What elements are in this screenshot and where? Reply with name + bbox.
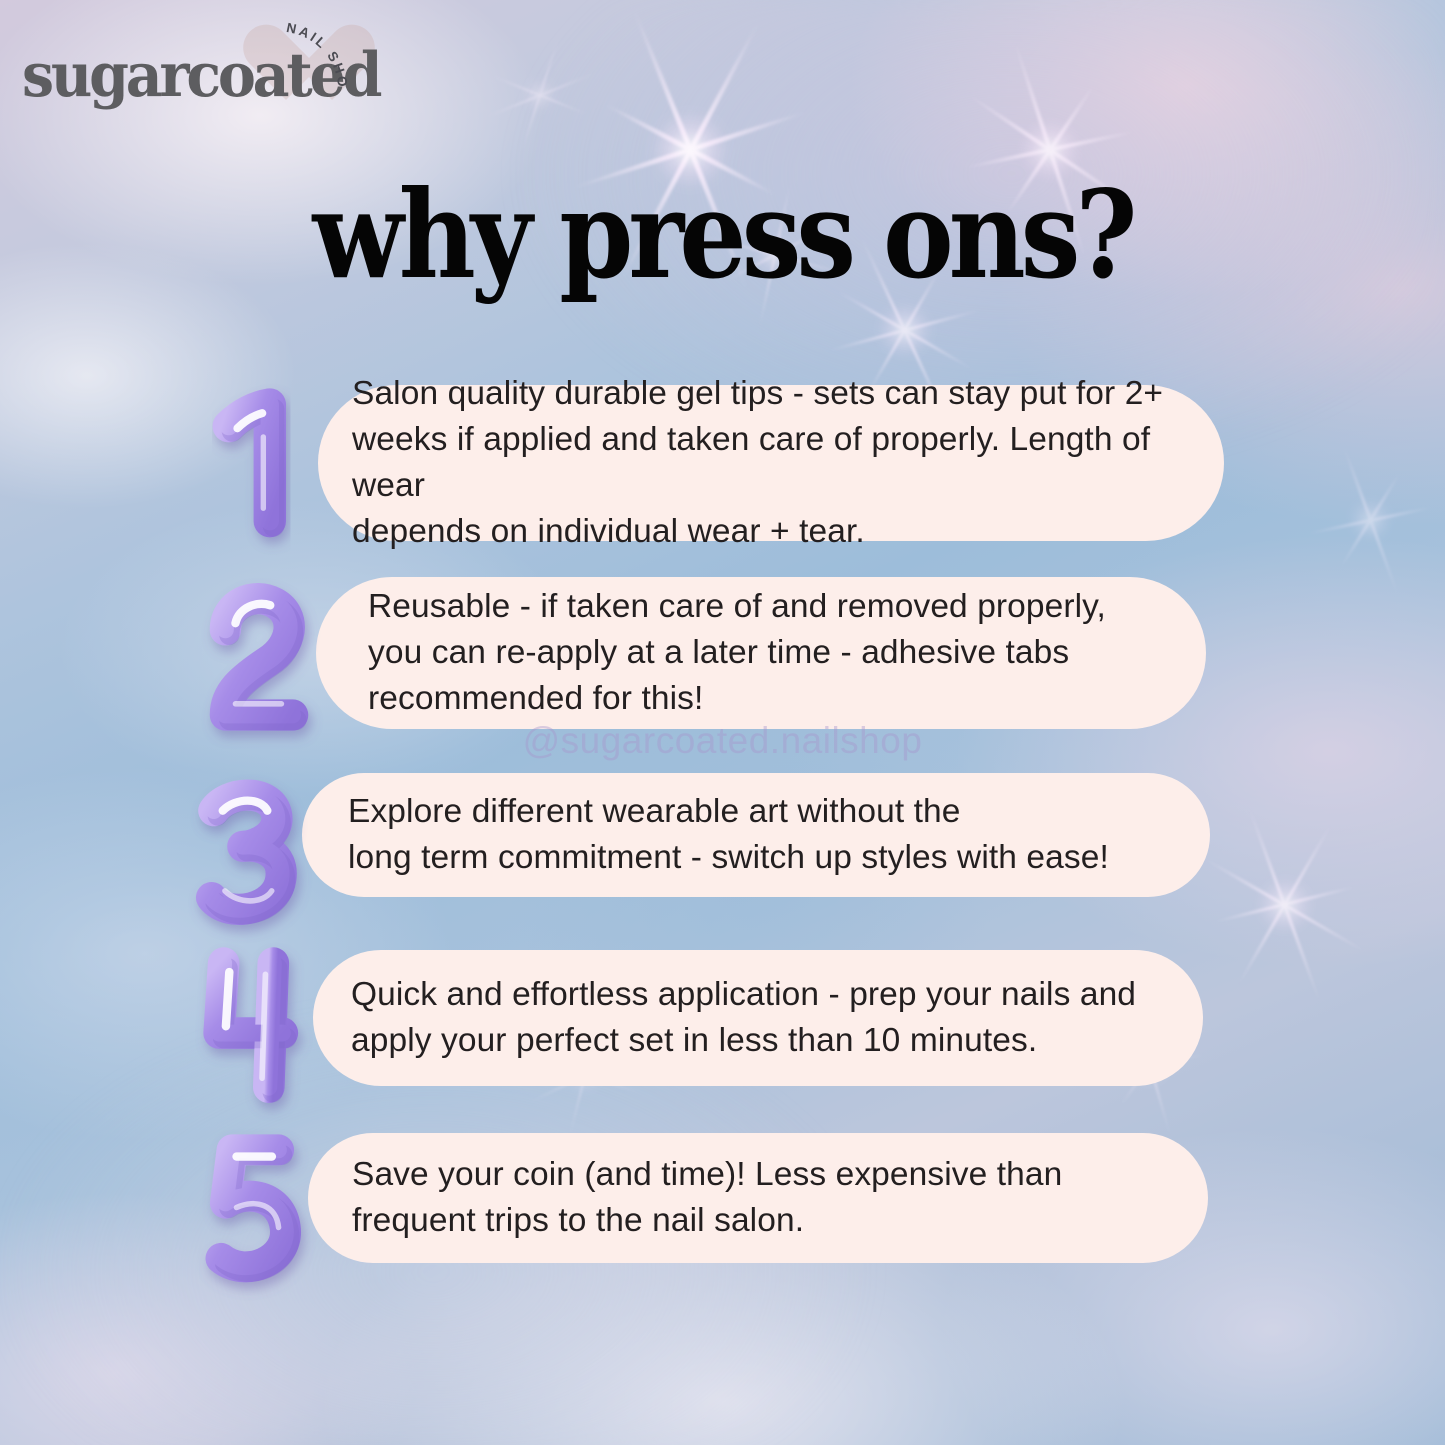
benefit-card: Save your coin (and time)! Less expensiv…: [308, 1133, 1208, 1263]
benefit-card: Salon quality durable gel tips - sets ca…: [318, 385, 1224, 541]
benefit-text: Explore different wearable art without t…: [348, 789, 1109, 881]
list-number-4: [196, 945, 310, 1103]
list-number-5: [196, 1130, 308, 1285]
list-number-3: [185, 775, 305, 931]
benefit-card: Reusable - if taken care of and removed …: [316, 577, 1206, 729]
benefit-card: Explore different wearable art without t…: [302, 773, 1210, 897]
benefits-list: Salon quality durable gel tips - sets ca…: [0, 0, 1445, 1445]
benefit-card: Quick and effortless application - prep …: [313, 950, 1203, 1086]
list-number-1: [205, 385, 313, 545]
list-number-2: [203, 580, 315, 738]
benefit-text: Salon quality durable gel tips - sets ca…: [352, 371, 1194, 555]
poster-canvas: sugarcoated NAIL SHOP why press ons? Sal…: [0, 0, 1445, 1445]
benefit-text: Reusable - if taken care of and removed …: [368, 584, 1106, 722]
benefit-text: Save your coin (and time)! Less expensiv…: [352, 1152, 1062, 1244]
benefit-text: Quick and effortless application - prep …: [351, 972, 1136, 1064]
